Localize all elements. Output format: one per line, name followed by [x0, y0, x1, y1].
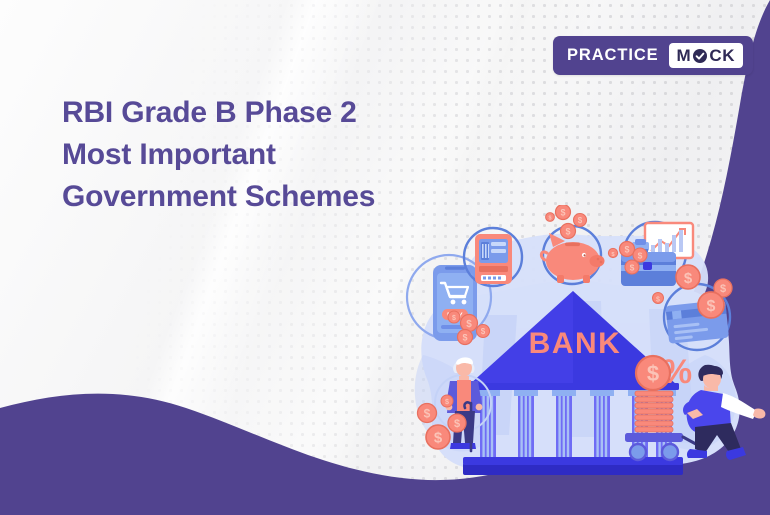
bank-sign-text: BANK: [529, 327, 622, 360]
banking-finance-illustration: BUY $ $ $ $: [405, 205, 770, 495]
svg-text:$: $: [684, 270, 693, 287]
headline: RBI Grade B Phase 2 Most Important Gover…: [62, 92, 492, 218]
logo-mock-badge: M CK: [669, 43, 744, 68]
headline-line-2: Most Important: [62, 134, 492, 176]
svg-text:$: $: [445, 397, 449, 406]
logo-practice-word: PRACTICE: [567, 47, 659, 64]
svg-text:$: $: [630, 262, 635, 272]
promo-banner: BUY $ $ $ $: [0, 0, 770, 515]
coin-stack: [635, 391, 673, 432]
logo-mock-suffix: CK: [709, 47, 735, 64]
svg-text:$: $: [434, 430, 443, 447]
check-inside-o-icon: [692, 48, 708, 64]
svg-text:$: $: [707, 298, 716, 315]
svg-text:$: $: [560, 208, 565, 218]
svg-text:$: $: [452, 315, 456, 322]
svg-text:$: $: [481, 327, 486, 336]
svg-text:$: $: [462, 333, 467, 343]
svg-text:$: $: [454, 418, 460, 430]
svg-text:$: $: [638, 250, 643, 260]
svg-text:$: $: [548, 216, 551, 222]
svg-text:$: $: [720, 283, 726, 295]
svg-text:$: $: [647, 361, 659, 386]
logo-mock-prefix: M: [677, 47, 692, 64]
headline-line-1: RBI Grade B Phase 2: [62, 92, 492, 134]
practicemock-logo[interactable]: PRACTICE M CK: [553, 36, 753, 75]
svg-text:$: $: [656, 296, 660, 303]
svg-text:$: $: [565, 227, 570, 237]
svg-text:$: $: [466, 319, 472, 330]
logo-mock-word: M CK: [677, 47, 736, 64]
svg-text:$: $: [624, 245, 629, 255]
headline-line-3: Government Schemes: [62, 176, 492, 218]
svg-text:$: $: [578, 216, 583, 225]
svg-text:$: $: [424, 406, 431, 420]
